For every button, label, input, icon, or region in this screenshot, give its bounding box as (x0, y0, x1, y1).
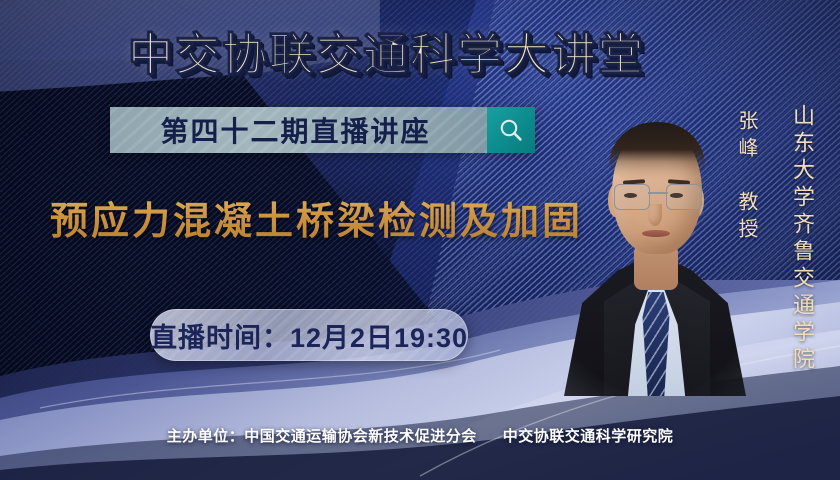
session-label: 第四十二期直播讲座 (160, 110, 430, 150)
lecture-headline: 预应力混凝土桥梁检测及加固 (50, 190, 583, 245)
page-title: 中交协联交通科学大讲堂 (128, 18, 645, 83)
session-banner: 第四十二期直播讲座 (110, 107, 535, 153)
search-icon (498, 117, 524, 143)
broadcast-time-badge: 直播时间：12月2日19:30 (150, 309, 468, 361)
live-lecture-poster: 中交协联交通科学大讲堂 第四十二期直播讲座 预应力混凝土桥梁检测及加固 直播时间… (0, 0, 840, 480)
speaker-affiliation: 山东大学齐鲁交通学院 (786, 104, 818, 374)
search-button[interactable] (487, 107, 535, 153)
footer-organizer-1: 中国交通运输协会新技术促进分会 (244, 428, 477, 445)
speaker-portrait (560, 96, 750, 396)
footer-prefix: 主办单位： (167, 428, 245, 445)
broadcast-time-text: 直播时间：12月2日19:30 (150, 316, 468, 355)
speaker-name-title: 张峰 教授 (732, 110, 761, 245)
footer-organizer-2: 中交协联交通科学研究院 (503, 428, 674, 445)
footer-organizers: 主办单位：中国交通运输协会新技术促进分会中交协联交通科学研究院 (0, 425, 840, 446)
session-banner-body: 第四十二期直播讲座 (110, 107, 487, 153)
